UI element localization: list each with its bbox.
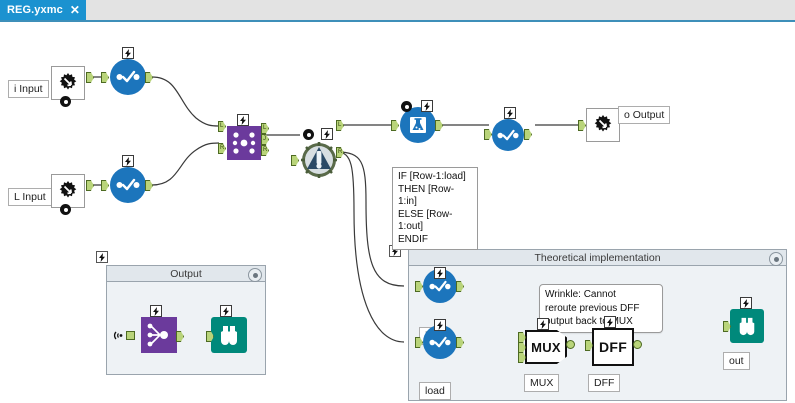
close-icon[interactable]: ✕ <box>70 4 80 16</box>
formula-tool[interactable] <box>400 107 436 143</box>
dff-lightning-badge[interactable] <box>604 316 616 328</box>
select-out-tool[interactable] <box>492 119 524 151</box>
join-nodes-icon <box>231 130 257 156</box>
container-output-header[interactable]: Output <box>107 266 265 282</box>
collapse-circle-icon[interactable] <box>248 268 262 282</box>
browse-output-lightning-badge[interactable] <box>220 305 232 317</box>
macro-input-i-config-badge[interactable] <box>60 96 71 107</box>
mux-macro-tool[interactable]: MUX <box>525 330 567 364</box>
mux-output-anchor[interactable] <box>566 340 575 349</box>
formula-config-badge[interactable] <box>401 101 412 112</box>
label-out: out <box>723 352 750 370</box>
dff-macro-tool[interactable]: DFF <box>592 328 634 366</box>
control-container-config-badge[interactable] <box>303 129 314 140</box>
select-in-lightning-badge[interactable] <box>434 267 446 279</box>
browse-output-tool[interactable] <box>211 317 247 353</box>
binoculars-icon <box>735 316 759 336</box>
label-i-input: i Input <box>8 80 49 98</box>
tab-bar: REG.yxmc ✕ <box>0 0 795 20</box>
select-i-tool[interactable] <box>110 59 146 95</box>
control-container-tool[interactable] <box>300 141 338 179</box>
wireless-icon <box>113 330 125 341</box>
workflow-canvas[interactable]: Output Theoretical implementation i Inpu… <box>0 22 795 403</box>
formula-lightning-badge[interactable] <box>421 100 433 112</box>
dff-output-anchor[interactable] <box>633 340 642 349</box>
macro-input-l-config-badge[interactable] <box>60 204 71 215</box>
macro-output-o[interactable] <box>586 108 620 142</box>
select-l-tool[interactable] <box>110 167 146 203</box>
dff-macro-text: DFF <box>599 339 627 355</box>
select-check-icon <box>429 280 451 293</box>
union-tool[interactable] <box>141 317 177 353</box>
container-theoretical-title: Theoretical implementation <box>534 252 660 264</box>
control-container-lightning-badge[interactable] <box>321 128 333 140</box>
gear-arrow-icon <box>591 113 615 137</box>
macro-input-i[interactable] <box>51 66 85 100</box>
select-check-icon <box>116 70 140 84</box>
formula-flask-icon <box>407 114 429 136</box>
label-dff: DFF <box>588 374 620 392</box>
browse-out-lightning-badge[interactable] <box>740 297 752 309</box>
comment-conditional: IF [Row-1:load] THEN [Row-1:in] ELSE [Ro… <box>392 167 478 250</box>
container-output-lightning-badge[interactable] <box>96 251 108 263</box>
select-out-lightning-badge[interactable] <box>504 107 516 119</box>
label-l-input: L Input <box>8 188 52 206</box>
select-check-icon <box>497 129 519 142</box>
collapse-circle-icon[interactable] <box>769 252 783 266</box>
comment-wrinkle: Wrinkle: Cannot reroute previous DFF out… <box>539 284 663 333</box>
select-i-lightning-badge[interactable] <box>122 47 134 59</box>
gear-container-icon <box>300 141 338 179</box>
container-output-title: Output <box>170 268 202 280</box>
select-check-icon <box>116 178 140 192</box>
select-check-icon <box>429 336 451 349</box>
join-lightning-badge[interactable] <box>237 114 249 126</box>
binoculars-icon <box>216 324 242 346</box>
mux-macro-text: MUX <box>531 340 561 355</box>
macro-input-l[interactable] <box>51 174 85 208</box>
label-load: load <box>419 382 451 400</box>
tab-title: REG.yxmc <box>7 4 63 16</box>
workflow-designer-window: REG.yxmc ✕ <box>0 0 795 403</box>
container-theoretical-header[interactable]: Theoretical implementation <box>409 250 786 266</box>
label-mux: MUX <box>524 374 559 392</box>
select-l-lightning-badge[interactable] <box>122 155 134 167</box>
union-input-anchor[interactable] <box>126 331 135 340</box>
gear-arrow-icon <box>56 71 80 95</box>
union-merge-icon <box>146 322 172 348</box>
browse-out-tool[interactable] <box>730 309 764 343</box>
mux-lightning-badge[interactable] <box>537 318 549 330</box>
join-tool[interactable] <box>227 126 261 160</box>
gear-arrow-icon <box>56 179 80 203</box>
tab-reg-yxmc[interactable]: REG.yxmc ✕ <box>0 0 86 20</box>
select-load-lightning-badge[interactable] <box>434 319 446 331</box>
label-o-output: o Output <box>618 106 670 124</box>
union-lightning-badge[interactable] <box>150 305 162 317</box>
